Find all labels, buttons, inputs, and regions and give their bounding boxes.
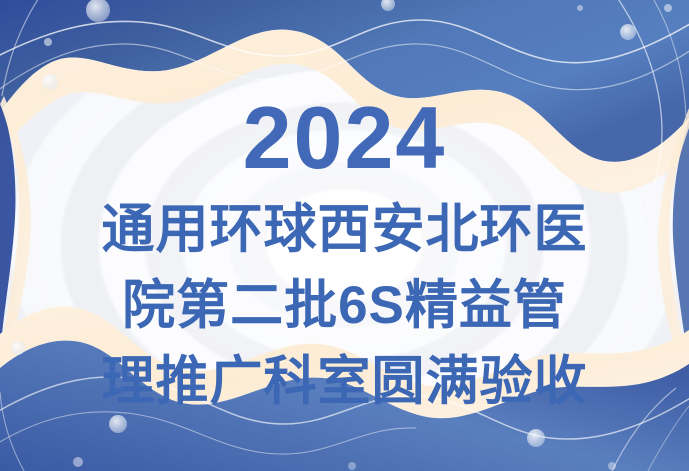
headline-line-1: 通用环球西安北环医 [0,192,689,268]
poster-headline: 通用环球西安北环医 院第二批6S精益管 理推广科室圆满验收 [0,192,689,420]
poster-canvas: 2024 通用环球西安北环医 院第二批6S精益管 理推广科室圆满验收 [0,0,689,471]
headline-line-3: 理推广科室圆满验收 [0,344,689,420]
poster-year: 2024 [0,94,689,182]
headline-line-2: 院第二批6S精益管 [0,268,689,344]
